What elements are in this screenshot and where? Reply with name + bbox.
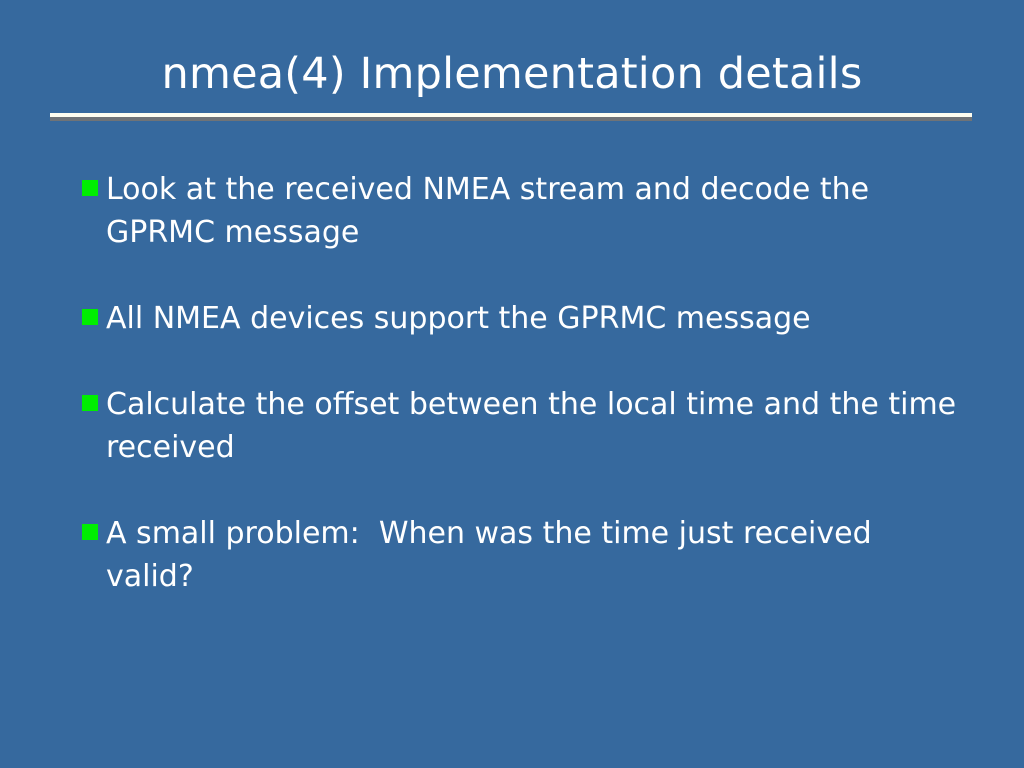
square-bullet-icon [82,395,98,411]
list-item-label: A small problem: When was the time just … [106,512,962,598]
title-divider-shadow [50,117,972,121]
page-title: nmea(4) Implementation details [0,48,1024,100]
list-item: Look at the received NMEA stream and dec… [82,168,962,254]
list-item-label: Look at the received NMEA stream and dec… [106,168,962,254]
list-item: All NMEA devices support the GPRMC messa… [82,297,962,340]
title-divider-rule [50,113,972,121]
slide-title-block: nmea(4) Implementation details [0,48,1024,100]
presentation-slide: nmea(4) Implementation details Look at t… [0,0,1024,768]
bullet-list: Look at the received NMEA stream and dec… [82,168,962,598]
list-item: A small problem: When was the time just … [82,512,962,598]
square-bullet-icon [82,524,98,540]
list-item-label: Calculate the offset between the local t… [106,383,962,469]
square-bullet-icon [82,180,98,196]
list-item-label: All NMEA devices support the GPRMC messa… [106,297,962,340]
list-item: Calculate the offset between the local t… [82,383,962,469]
square-bullet-icon [82,309,98,325]
